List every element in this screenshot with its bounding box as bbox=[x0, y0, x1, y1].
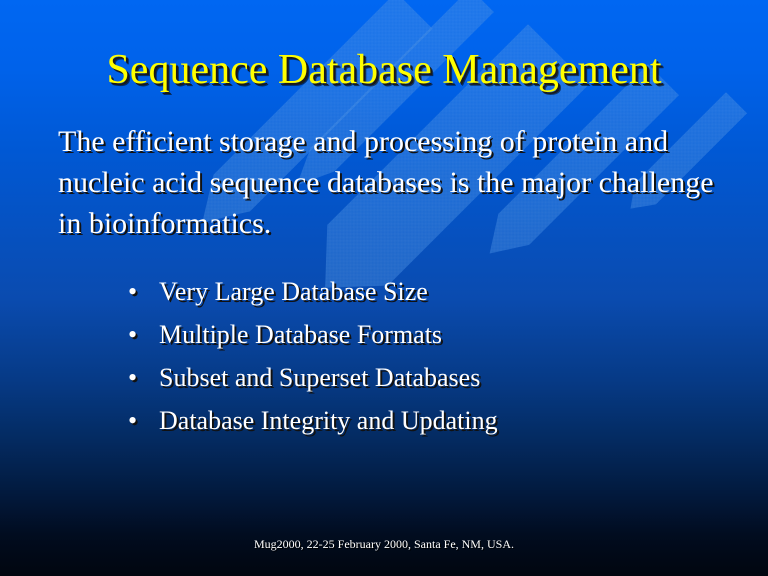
slide-title: Sequence Database Management bbox=[0, 46, 768, 94]
slide-footer: Mug2000, 22-25 February 2000, Santa Fe, … bbox=[0, 537, 768, 552]
list-item-label: Multiple Database Formats bbox=[159, 313, 442, 356]
list-item-label: Database Integrity and Updating bbox=[159, 399, 498, 442]
list-item-label: Very Large Database Size bbox=[159, 270, 428, 313]
bullet-list: • Very Large Database Size • Multiple Da… bbox=[128, 270, 728, 442]
presentation-slide: Sequence Database Management The efficie… bbox=[0, 0, 768, 576]
list-item: • Subset and Superset Databases bbox=[128, 356, 728, 399]
bullet-point-icon: • bbox=[128, 399, 159, 442]
slide-intro-paragraph: The efficient storage and processing of … bbox=[58, 121, 738, 244]
list-item-label: Subset and Superset Databases bbox=[159, 356, 480, 399]
bullet-point-icon: • bbox=[128, 356, 159, 399]
list-item: • Database Integrity and Updating bbox=[128, 399, 728, 442]
list-item: • Very Large Database Size bbox=[128, 270, 728, 313]
list-item: • Multiple Database Formats bbox=[128, 313, 728, 356]
bullet-point-icon: • bbox=[128, 313, 159, 356]
bullet-point-icon: • bbox=[128, 270, 159, 313]
